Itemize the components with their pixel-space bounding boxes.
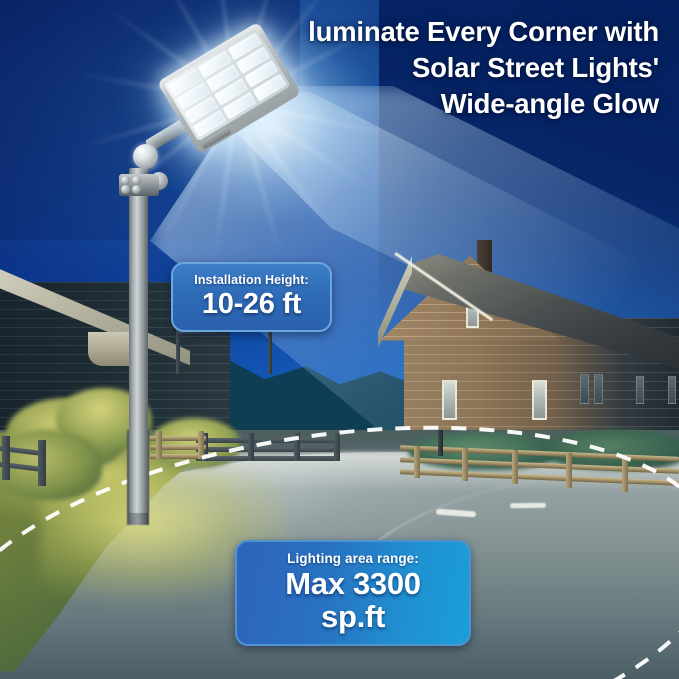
headline-line-3: Wide-angle Glow (139, 86, 659, 122)
window (594, 374, 603, 404)
product-banner: luminate Every Corner with Solar Street … (0, 0, 679, 679)
installation-height-caption: Installation Height: (191, 273, 312, 287)
headline-line-2: Solar Street Lights' (139, 50, 659, 86)
installation-height-badge: Installation Height: 10-26 ft (171, 262, 332, 332)
pole-cap-sensor (133, 144, 158, 169)
utility-pole (268, 328, 272, 374)
lighting-area-caption: Lighting area range: (255, 551, 451, 566)
utility-pole (176, 330, 180, 374)
installation-height-value: 10-26 ft (191, 289, 312, 319)
light-pole (129, 168, 148, 513)
fence-post (438, 430, 443, 456)
window (668, 376, 676, 404)
mounting-clamp (119, 174, 159, 196)
window (532, 380, 547, 420)
window (580, 374, 589, 404)
lighting-area-badge: Lighting area range: Max 3300 sp.ft (235, 540, 471, 646)
headline-line-1: luminate Every Corner with (139, 14, 659, 50)
lighting-area-value: Max 3300 sp.ft (255, 568, 451, 633)
page-title: luminate Every Corner with Solar Street … (139, 14, 659, 121)
lane-marking (510, 503, 546, 509)
window (636, 376, 644, 404)
